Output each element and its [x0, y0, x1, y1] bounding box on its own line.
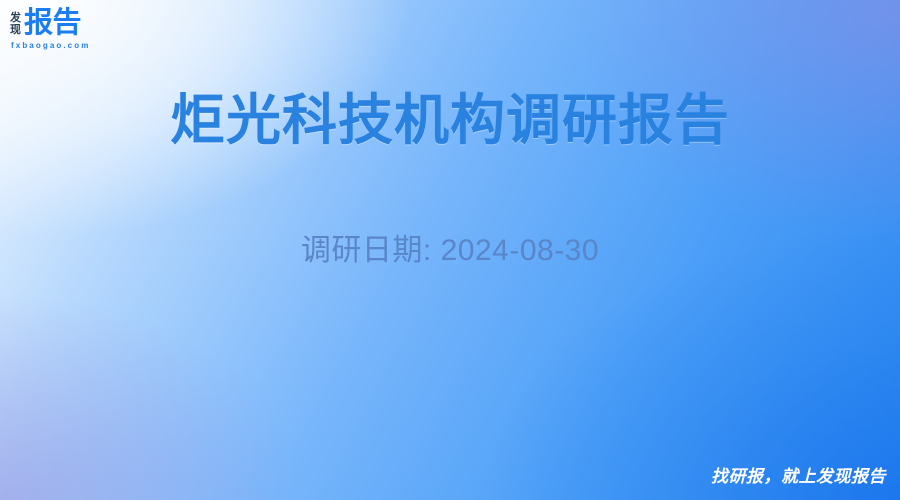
- report-cover-slide: 发 现 报告 fxbaogao.com 炬光科技机构调研报告 调研日期: 202…: [0, 0, 900, 500]
- logo-mark: 发 现: [10, 12, 21, 36]
- logo-wordmark: 报告: [24, 9, 81, 38]
- title-block: 炬光科技机构调研报告: [0, 88, 900, 152]
- survey-date-subtitle: 调研日期: 2024-08-30: [0, 232, 900, 270]
- logo-row: 发 现 报告: [10, 9, 81, 38]
- subtitle-block: 调研日期: 2024-08-30: [0, 232, 900, 270]
- logo-domain: fxbaogao.com: [11, 41, 90, 50]
- footer-tagline: 找研报，就上发现报告: [711, 466, 886, 488]
- logo-mark-char-2: 现: [10, 24, 21, 36]
- logo-mark-char-1: 发: [10, 12, 21, 24]
- brand-logo[interactable]: 发 现 报告 fxbaogao.com: [10, 9, 90, 50]
- page-title: 炬光科技机构调研报告: [0, 88, 900, 152]
